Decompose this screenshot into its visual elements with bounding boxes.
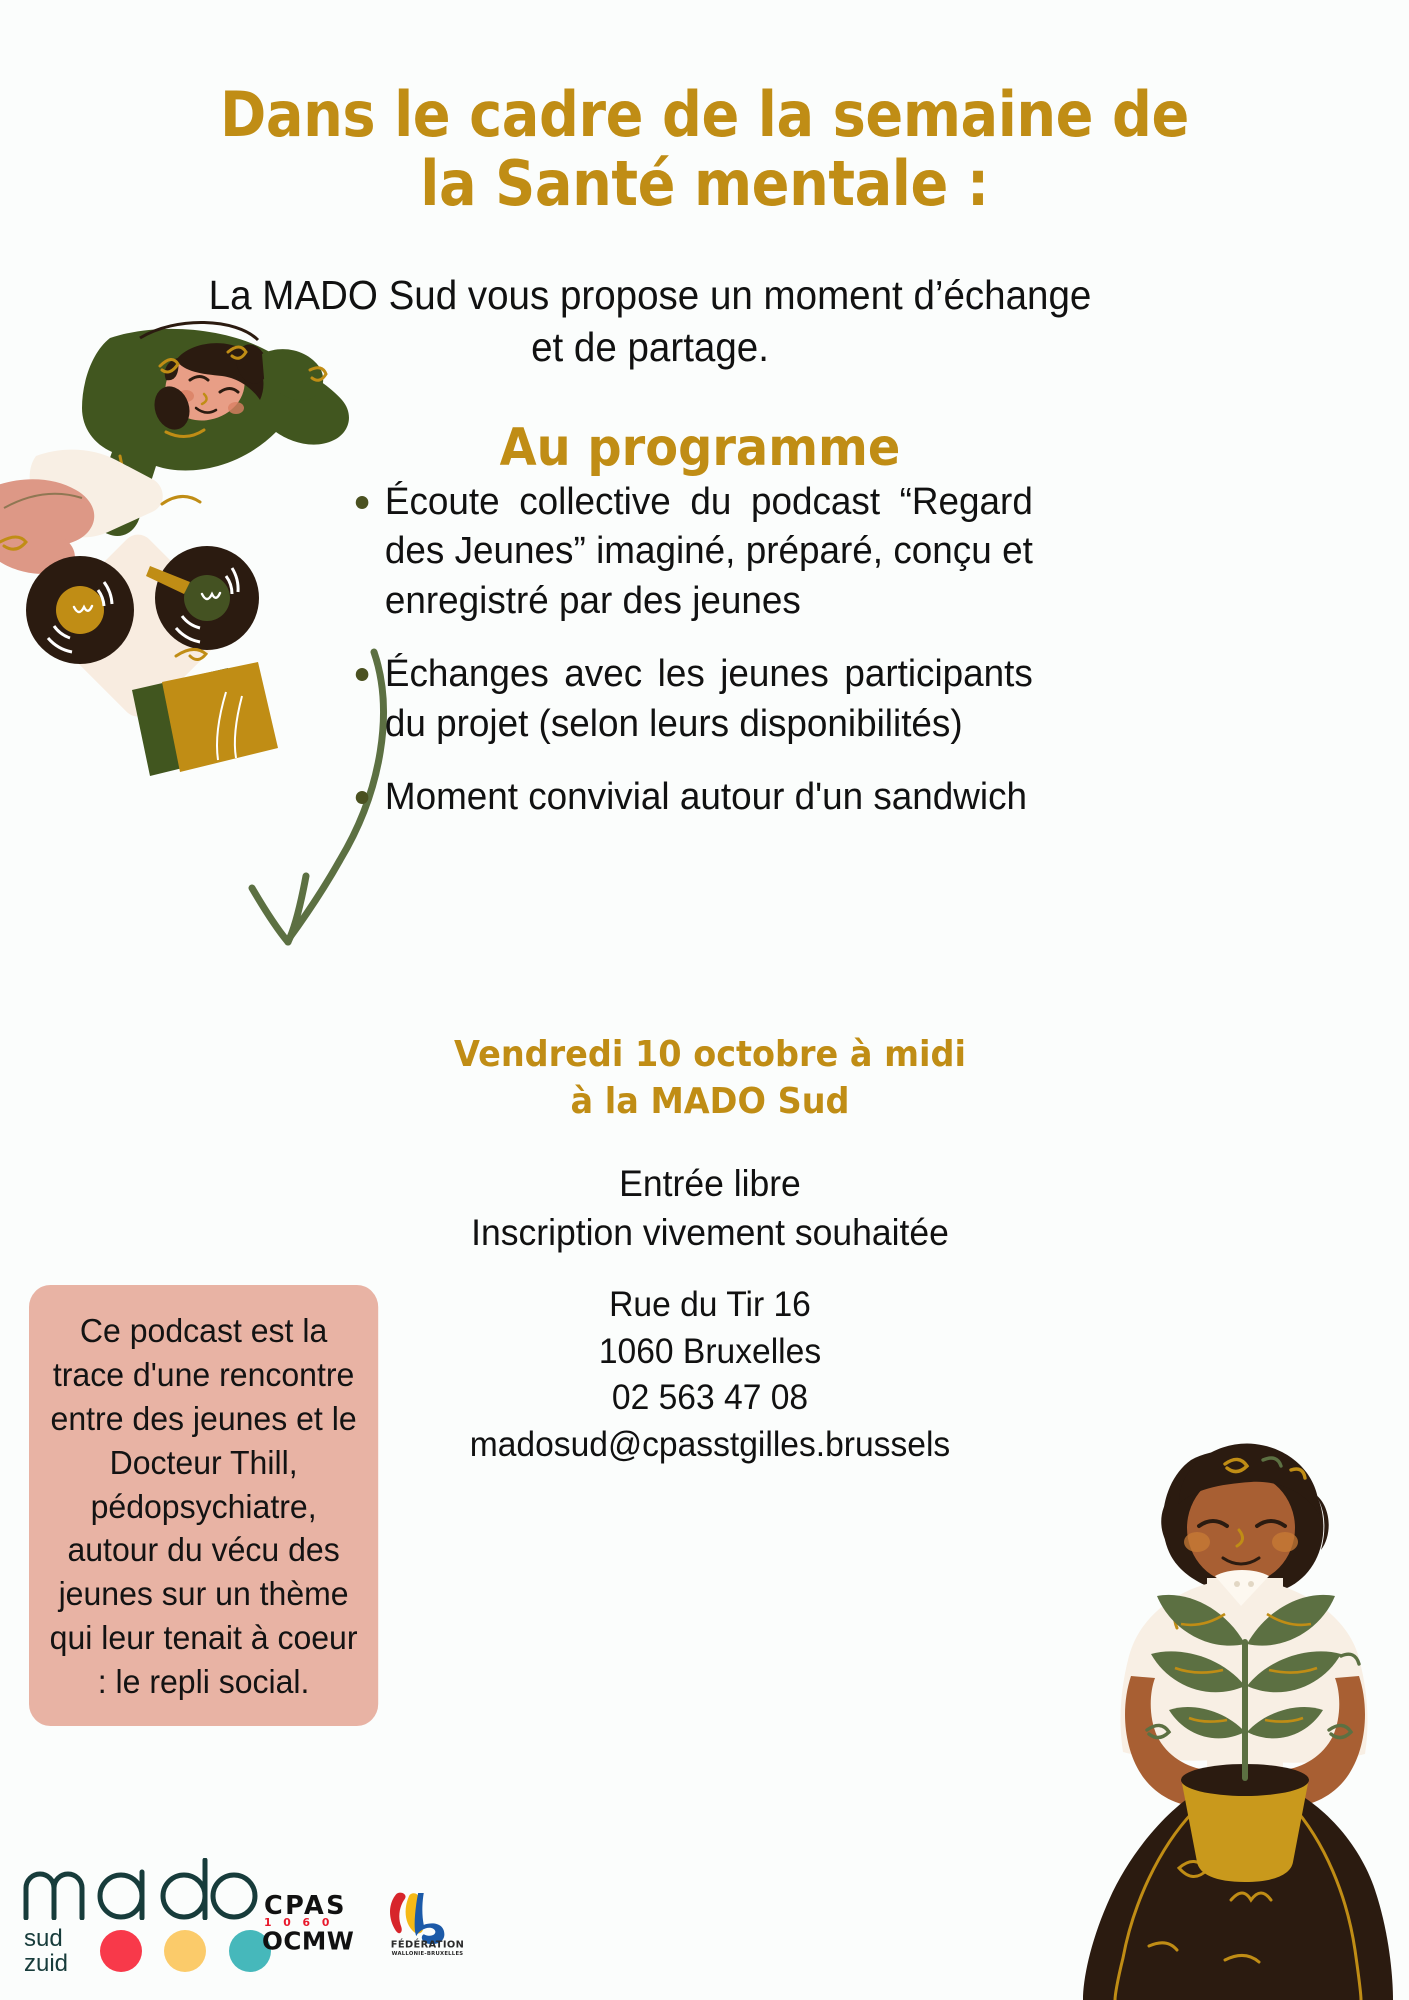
federation-wallonie-bruxelles-logo: FÉDÉRATION WALLONIE-BRUXELLES (375, 1885, 480, 1959)
event-date: Vendredi 10 octobre à midi à la MADO Sud (431, 1032, 989, 1126)
page-title: Dans le cadre de la semaine de la Santé … (70, 80, 1338, 219)
contact-block: Rue du Tir 16 1060 Bruxelles 02 563 47 0… (403, 1282, 1017, 1468)
list-item: Échanges avec les jeunes participants du… (348, 650, 1033, 749)
mado-logo (18, 1858, 258, 1920)
podcast-note-box: Ce podcast est la trace d'une rencontre … (29, 1285, 378, 1726)
mado-dot-red (100, 1930, 142, 1972)
mado-sub-line2: zuid (24, 1951, 68, 1976)
phone-number[interactable]: 02 563 47 08 (403, 1375, 1017, 1422)
address-street: Rue du Tir 16 (403, 1282, 1017, 1329)
cpas-logo: CPAS 1060 OCMW (262, 1888, 372, 1958)
intro-text: La MADO Sud vous propose un moment d’éch… (204, 269, 1097, 374)
list-item: Écoute collective du podcast “Regard des… (348, 478, 1033, 626)
svg-text:OCMW: OCMW (262, 1927, 354, 1956)
federation-line2: WALLONIE-BRUXELLES (392, 1951, 464, 1957)
page-title-line2: la Santé mentale : (70, 149, 1338, 218)
address-city: 1060 Bruxelles (403, 1329, 1017, 1376)
mado-logo-subtext: sud zuid (24, 1926, 68, 1976)
poster-root: Dans le cadre de la semaine de la Santé … (0, 0, 1409, 2000)
event-date-line1: Vendredi 10 octobre à midi (431, 1032, 989, 1079)
section-title-programme: Au programme (360, 418, 1041, 478)
illustration-person-with-plant (1075, 1430, 1409, 2000)
page-title-line1: Dans le cadre de la semaine de (220, 78, 1189, 151)
event-date-line2: à la MADO Sud (431, 1079, 989, 1126)
email-address[interactable]: madosud@cpasstgilles.brussels (403, 1422, 1017, 1469)
entry-free-label: Entrée libre (403, 1160, 1017, 1209)
illustration-person-listening (0, 320, 400, 800)
registration-label: Inscription vivement souhaitée (403, 1209, 1017, 1258)
mado-sub-line1: sud (24, 1926, 68, 1951)
event-entry-info: Entrée libre Inscription vivement souhai… (403, 1160, 1017, 1258)
federation-line1: FÉDÉRATION (391, 1937, 464, 1950)
programme-list: Écoute collective du podcast “Regard des… (348, 478, 1054, 846)
mado-dot-yellow (164, 1930, 206, 1972)
logo-bar: sud zuid CPAS 1060 OCMW FÉDÉRATION WALLO… (0, 1840, 640, 2000)
mado-logo-dots (100, 1930, 289, 1977)
list-item: Moment convivial autour d'un sandwich (348, 773, 1033, 822)
